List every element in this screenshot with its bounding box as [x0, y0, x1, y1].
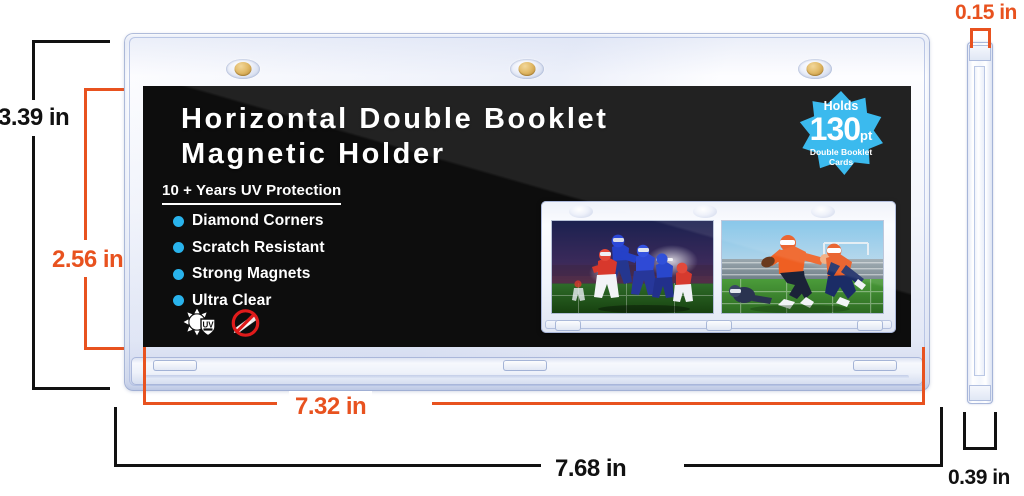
label-icon-row: UV	[183, 308, 264, 338]
overall-width-bracket-line-left	[114, 464, 541, 467]
list-item: Strong Magnets	[173, 265, 325, 283]
inner-width-bracket-line-right	[432, 402, 925, 405]
overall-width-label: 7.68 in	[549, 453, 632, 485]
inner-width-bracket-right-vertical	[922, 347, 925, 405]
inner-width-bracket-left-vertical	[143, 347, 146, 405]
feature-label: Scratch Resistant	[192, 239, 325, 257]
inner-holder-clip-left	[555, 320, 581, 331]
bullet-dot-icon	[173, 295, 184, 306]
inner-height-bracket-vertical-bottom	[84, 272, 87, 350]
list-item: Diamond Corners	[173, 212, 325, 230]
list-item: Ultra Clear	[173, 292, 325, 310]
holder-notch-left	[153, 360, 197, 371]
height-bracket-tick-top	[32, 40, 110, 43]
bullet-dot-icon	[173, 269, 184, 280]
overall-depth-bracket-right	[994, 412, 997, 450]
inner-magnet-right	[811, 205, 835, 218]
svg-text:UV: UV	[202, 320, 214, 329]
bullet-dot-icon	[173, 242, 184, 253]
inner-depth-label: 0.15 in	[955, 1, 1017, 25]
no-scratch-prohibited-icon	[230, 308, 264, 338]
magnet-top-left	[226, 59, 260, 79]
holder-notch-right	[853, 360, 897, 371]
inner-magnet-left	[569, 205, 593, 218]
height-bracket-tick-bottom	[32, 387, 110, 390]
feature-label: Ultra Clear	[192, 292, 272, 310]
badge-sub-line-1: Double Booklet	[810, 148, 872, 157]
list-item: Scratch Resistant	[173, 239, 325, 257]
overall-depth-bracket-left	[963, 412, 966, 450]
product-title: Horizontal Double Booklet Magnetic Holde…	[181, 102, 609, 172]
badge-point-number: 130	[810, 113, 860, 145]
feature-list: Diamond Corners Scratch Resistant Strong…	[173, 212, 325, 318]
magnet-top-right	[798, 59, 832, 79]
overall-depth-label: 0.39 in	[948, 466, 1010, 490]
height-bracket-vertical	[32, 40, 35, 390]
overall-height-label: 3.39 in	[0, 100, 73, 136]
title-line-2: Magnetic Holder	[181, 137, 609, 172]
inner-depth-bracket-left	[970, 28, 973, 48]
holder-notch-center	[503, 360, 547, 371]
title-line-1: Horizontal Double Booklet	[181, 102, 609, 137]
inner-width-bracket-line-left	[143, 402, 277, 405]
inner-width-label: 7.32 in	[289, 391, 372, 423]
football-card-night-scrimmage	[552, 221, 713, 313]
inner-holder-clip-center	[706, 320, 732, 331]
magnetic-card-holder-front-view: Horizontal Double Booklet Magnetic Holde…	[124, 33, 930, 391]
side-view-core	[974, 66, 985, 376]
feature-label: Strong Magnets	[192, 265, 311, 283]
product-dimension-diagram: 3.39 in 2.56 in Horizontal Double Bookle…	[0, 0, 1024, 496]
feature-label: Diamond Corners	[192, 212, 324, 230]
badge-point-unit: pt	[860, 129, 872, 142]
inner-height-label: 2.56 in	[48, 243, 127, 277]
inner-magnet-center	[693, 205, 717, 218]
inner-depth-bracket-top	[970, 28, 991, 31]
bullet-dot-icon	[173, 216, 184, 227]
holder-bottom-rail	[131, 357, 923, 385]
magnet-top-center	[510, 59, 544, 79]
badge-sub-line-2: Cards	[829, 158, 853, 167]
overall-width-bracket-right-vertical	[940, 407, 943, 467]
magnetic-card-holder-side-view	[967, 42, 993, 404]
uv-protection-heading: 10 + Years UV Protection	[162, 182, 341, 205]
product-label: Horizontal Double Booklet Magnetic Holde…	[143, 86, 911, 347]
football-card-daytime-tackle	[722, 221, 883, 313]
inner-height-bracket-vertical-top	[84, 88, 87, 240]
inner-holder-clip-right	[857, 320, 883, 331]
inner-depth-bracket-right	[988, 28, 991, 48]
overall-width-bracket-line-right	[684, 464, 943, 467]
inner-card-holder	[541, 201, 896, 333]
overall-depth-bracket-bottom	[963, 447, 997, 450]
overall-width-bracket-left-vertical	[114, 407, 117, 467]
holder-rail-seam	[145, 375, 909, 379]
capacity-badge: Holds 130 pt Double Booklet Cards	[799, 91, 883, 175]
uv-sun-shield-icon: UV	[183, 308, 217, 338]
side-view-bottom-cap	[969, 385, 991, 401]
